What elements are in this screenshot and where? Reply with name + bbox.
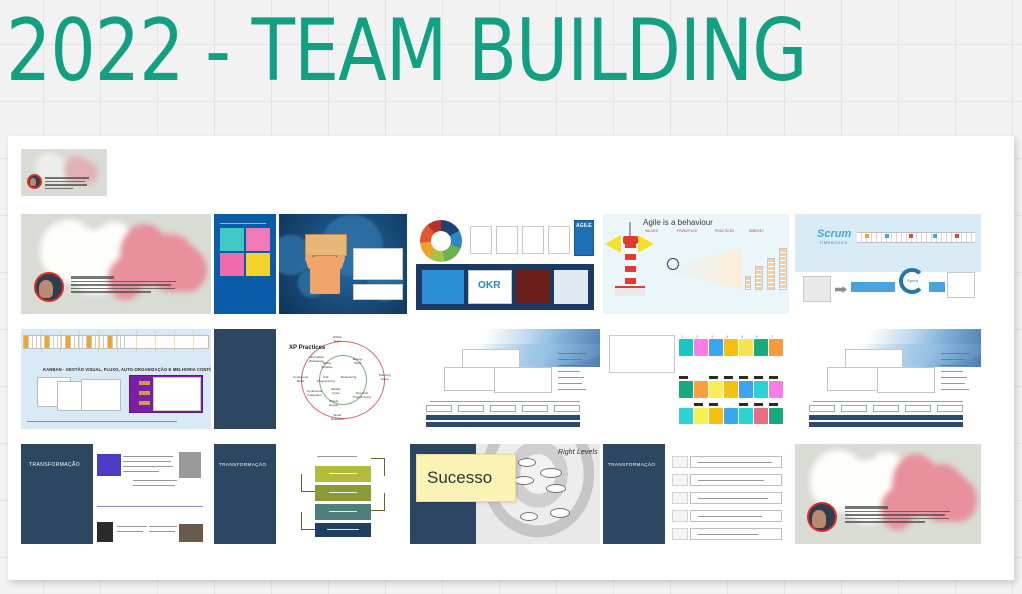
thumbnail-questions[interactable]: [668, 444, 790, 544]
thumbnail-rugby-closing[interactable]: [795, 444, 981, 544]
thumbnail-wave-flow-2[interactable]: [795, 329, 981, 429]
thumbnail-navy-cover-1[interactable]: [214, 329, 276, 429]
slide-title-kanban: KANBAN - GESTÃO VISUAL, FLUXO, AUTO-ORGA…: [43, 367, 211, 372]
thumbnail-header-rugby[interactable]: [21, 149, 107, 196]
slide-title-agile-behaviour: Agile is a behaviour: [643, 218, 713, 227]
page-title: 2022 - TEAM BUILDING: [6, 0, 935, 106]
slide-subtitle-scrum: TIMEBOXES: [819, 240, 848, 245]
sticky-note-sucesso: Sucesso: [416, 454, 516, 502]
avatar: [807, 502, 837, 532]
slide-title-transformacao-3: TRANSFORMAÇÃO: [608, 462, 655, 467]
thumbnail-sucesso[interactable]: Right Levels Sucesso: [410, 444, 600, 544]
slide-title-xp: XP Practices: [289, 345, 325, 351]
thumbnail-transformacao-cover[interactable]: TRANSFORMAÇÃO: [214, 444, 276, 544]
avatar: [27, 174, 42, 189]
thumbnail-wave-flow-1[interactable]: [410, 329, 600, 429]
avatar: [34, 272, 64, 302]
thumbnail-transformacao-timeline[interactable]: TRANSFORMAÇÃO: [21, 444, 211, 544]
thumbnail-team-building[interactable]: 1 2 3 4 5 6 7: [603, 329, 789, 429]
thumbnail-stack-flow[interactable]: [279, 444, 407, 544]
thumbnail-agile-books[interactable]: AGILE OKR: [410, 214, 600, 314]
thumbnail-scrum-timeboxes[interactable]: Scrum TIMEBOXES Sprint: [795, 214, 981, 314]
sticky-note-label: Sucesso: [417, 468, 492, 488]
slide-title-scrum: Scrum: [817, 228, 851, 240]
slide-title-transformacao-1: TRANSFORMAÇÃO: [29, 462, 80, 468]
slide-annotation-right-levels: Right Levels: [558, 449, 598, 456]
slides-canvas: AGILE OKR Agile is a behaviour VALUES PR…: [8, 136, 1014, 580]
thumbnail-rugby-large[interactable]: [21, 214, 211, 314]
thumbnail-blue-notes[interactable]: [214, 214, 276, 314]
thumbnail-label-agile: AGILE: [576, 223, 592, 229]
thumbnail-cat-virus[interactable]: [279, 214, 407, 314]
thumbnail-xp-practices[interactable]: XP Practices WholeTeam SittingTogether I…: [279, 329, 407, 429]
thumbnail-kanban[interactable]: KANBAN - GESTÃO VISUAL, FLUXO, AUTO-ORGA…: [21, 329, 211, 429]
thumbnail-lighthouse[interactable]: Agile is a behaviour VALUES PRINCIPLES P…: [603, 214, 789, 314]
thumbnail-label-okr: OKR: [478, 280, 501, 291]
thumbnail-transformacao-cover-2[interactable]: TRANSFORMAÇÃO: [603, 444, 665, 544]
slide-title-transformacao-2: TRANSFORMAÇÃO: [219, 462, 266, 467]
